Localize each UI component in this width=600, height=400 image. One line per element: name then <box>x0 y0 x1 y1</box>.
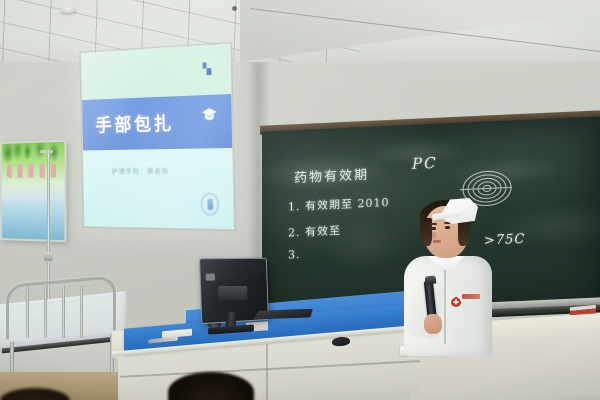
presentation-slide: 手部包扎 护理学院：黄老师 <box>81 44 234 229</box>
blackboard-line-3: 3. <box>288 248 301 262</box>
microphone-head <box>425 275 437 284</box>
blackboard-heading: 药物有效期 <box>294 164 369 186</box>
nurse-mouth <box>433 240 441 243</box>
nurse-eyebrow-left <box>430 223 437 225</box>
smoke-detector-icon <box>60 6 76 13</box>
projection-screen: 手部包扎 护理学院：黄老师 <box>81 44 234 229</box>
mural-blossoms <box>7 164 59 178</box>
ceiling-fixture-dot <box>232 6 237 11</box>
desk-panel-divider <box>266 344 268 400</box>
blackboard-heading-right: PC <box>412 154 438 173</box>
bed-rail-bar <box>44 286 47 338</box>
nurse-eye-right <box>445 226 450 229</box>
slide-subtitle-text: 护理学院：黄老师 <box>112 166 202 176</box>
uniform-name-text <box>462 294 480 299</box>
bed-rail-bar <box>26 286 29 338</box>
blackboard-line-2: 2. 有效至 <box>288 222 341 240</box>
bed-rail-bar <box>62 286 65 338</box>
slide-title-text: 手部包扎 <box>82 98 188 147</box>
iv-pole-collar <box>44 252 53 261</box>
nurse-presenter <box>398 196 506 356</box>
classroom-scene-photo: 手部包扎 护理学院：黄老师 药物有效期 PC 1. 有效期至 2010 2. 有… <box>0 0 600 400</box>
nurse-hand <box>424 314 442 334</box>
framed-landscape-mural <box>0 140 66 243</box>
monitor-label-sticker <box>206 273 215 280</box>
bed-head-rail <box>6 275 116 340</box>
nurse-uniform-placket <box>444 270 446 344</box>
nurse-eye-left <box>431 227 436 230</box>
pixel-blocks-icon <box>203 62 212 75</box>
red-cross-emblem <box>450 292 462 302</box>
graduation-cap-icon <box>200 106 219 125</box>
slide-body-area <box>83 148 234 229</box>
mural-water <box>2 202 64 240</box>
bed-rail-bar <box>80 286 83 338</box>
nurse-nose <box>432 232 436 238</box>
monitor-vesa-mount <box>218 286 247 300</box>
